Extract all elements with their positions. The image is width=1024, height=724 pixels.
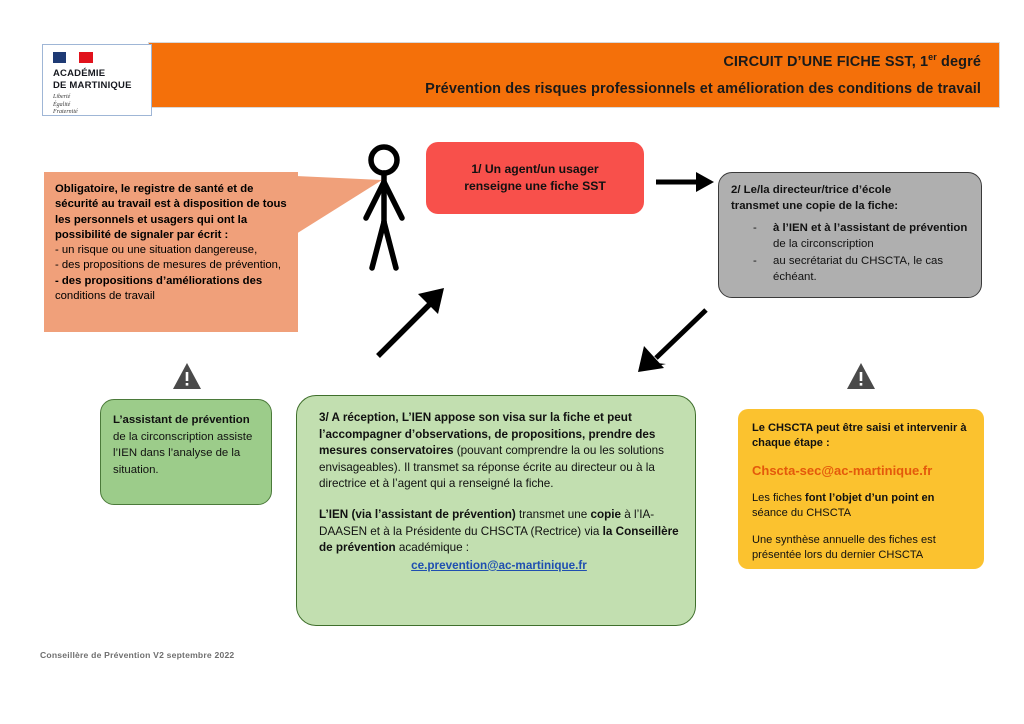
arrow-right-icon [654,166,716,198]
step-2-box: 2/ Le/la directeur/trice d’école transme… [718,172,982,298]
header-title-main: CIRCUIT D’UNE FICHE SST, 1 [723,54,928,70]
french-flag-icon [53,52,93,63]
step-3-p2-mid-1: transmet une [516,508,591,521]
step-2-bullet-list: à l’IEN et à l’assistant de prévention d… [731,221,969,285]
motto-fraternite: Fraternité [53,109,151,117]
step-1-line2: renseigne une fiche SST [464,178,606,195]
chscta-paragraph-2: Les fiches font l’objet d’un point en sé… [752,491,970,521]
step-1-text: 1/ Un agent/un usager renseigne une fich… [464,161,606,195]
header-subtitle: Prévention des risques professionnels et… [425,81,981,97]
stick-figure-icon [358,144,410,272]
step-3-paragraph-2: L’IEN (via l’assistant de prévention) tr… [319,507,679,574]
chscta-info-box: Le CHSCTA peut être saisi et intervenir … [738,409,984,569]
step-2-bullet-1-bold: à l’IEN et à l’assistant de prévention [773,222,967,234]
footer-credit: Conseillère de Prévention V2 septembre 2… [40,650,234,660]
callout-register-obligatoire: Obligatoire, le registre de santé et de … [44,172,298,332]
chscta-p2-plain: Les fiches [752,492,805,504]
logo-name: ACADÉMIE DE MARTINIQUE [53,68,151,91]
callout-item-3-bold: - des propositions d’améliorations des [55,275,262,287]
chscta-title: Le CHSCTA peut être saisi et intervenir … [752,421,970,451]
chscta-p2-bold: font l’objet d’un point en [805,492,934,504]
warning-triangle-icon [172,362,202,390]
header-title-line1: CIRCUIT D’UNE FICHE SST, 1er degré [723,52,981,70]
arrow-up-right-icon [376,286,448,360]
motto-egalite: Égalité [53,102,151,110]
header-title-superscript: er [928,52,937,62]
logo-name-line2: DE MARTINIQUE [53,80,151,92]
header-title-tail: degré [937,54,981,70]
step-3-p2-bold-2: copie [591,508,622,521]
warning-triangle-icon [846,362,876,390]
step-3-box: 3/ A réception, L’IEN appose son visa su… [296,395,696,626]
arrow-down-left-icon [634,306,712,374]
callout-item-2: - des propositions de mesures de prévent… [55,258,288,273]
chscta-p2-tail: séance du CHSCTA [752,507,851,519]
academie-logo: ACADÉMIE DE MARTINIQUE Liberté Égalité F… [42,44,152,116]
callout-bold-text: Obligatoire, le registre de santé et de … [55,182,288,243]
assistant-prevention-box: L’assistant de prévention de la circonsc… [100,399,272,505]
chscta-paragraph-3: Une synthèse annuelle des fiches est pré… [752,533,970,563]
callout-item-3-rest: conditions de travail [55,290,155,302]
step-2-bullet-2: au secrétariat du CHSCTA, le cas échéant… [753,254,969,285]
step-3-p2-mid-3: académique : [396,541,469,554]
step-2-bullet-1: à l’IEN et à l’assistant de prévention d… [753,221,969,252]
step-2-intro-line1: 2/ Le/la directeur/trice d’école [731,183,969,199]
step-3-paragraph-1: 3/ A réception, L’IEN appose son visa su… [319,410,679,493]
step-3-p2-bold-1: L’IEN (via l’assistant de prévention) [319,508,516,521]
step-2-intro-line2: transmet une copie de la fiche: [731,199,969,215]
assistant-bold-text: L’assistant de prévention [113,414,250,426]
logo-motto: Liberté Égalité Fraternité [53,94,151,117]
assistant-rest-text: de la circonscription assiste l’IEN dans… [113,431,252,476]
diagram-page: CIRCUIT D’UNE FICHE SST, 1er degré Préve… [0,0,1024,724]
step-1-line1: 1/ Un agent/un usager [464,161,606,178]
step-1-box: 1/ Un agent/un usager renseigne une fich… [426,142,644,214]
logo-name-line1: ACADÉMIE [53,68,151,80]
motto-liberte: Liberté [53,94,151,102]
prevention-email-link[interactable]: ce.prevention@ac-martinique.fr [319,558,679,575]
callout-item-3: - des propositions d’améliorations des c… [55,274,288,305]
chscta-email[interactable]: Chscta-sec@ac-martinique.fr [752,463,970,478]
header-band: CIRCUIT D’UNE FICHE SST, 1er degré Préve… [148,42,1000,108]
callout-item-1: - un risque ou une situation dangereuse, [55,243,288,258]
step-2-bullet-1-rest: de la circonscription [773,238,874,250]
